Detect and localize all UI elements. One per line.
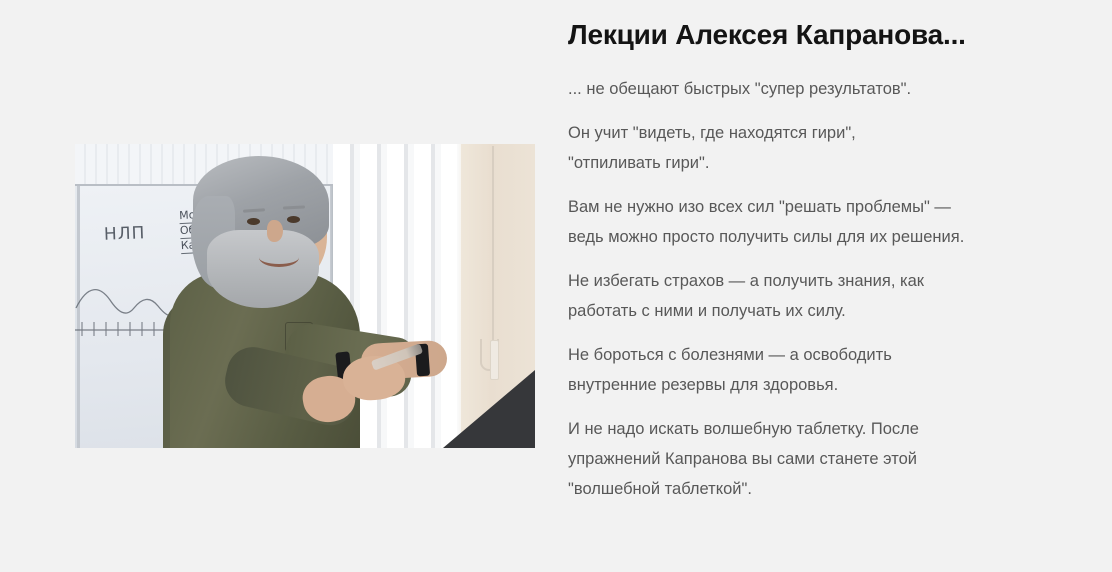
presenter-nose bbox=[267, 220, 283, 242]
lecturer-photo: НЛП Модель Образ Карта bbox=[75, 144, 535, 448]
presenter-eye-right bbox=[287, 216, 300, 223]
presenter bbox=[75, 144, 535, 448]
paragraph-1: ... не обещают быстрых "супер результато… bbox=[568, 74, 1068, 104]
photo-scene: НЛП Модель Образ Карта bbox=[75, 144, 535, 448]
paragraph-3: Вам не нужно изо всех сил "решать пробле… bbox=[568, 192, 1068, 252]
text-column: Лекции Алексея Капранова... ... не обеща… bbox=[568, 0, 1068, 572]
photo-column: НЛП Модель Образ Карта bbox=[0, 0, 560, 572]
presenter-smile bbox=[259, 248, 299, 267]
paragraph-5: Не бороться с болезнями — а освободитьвн… bbox=[568, 340, 1068, 400]
body-copy: ... не обещают быстрых "супер результато… bbox=[568, 74, 1068, 504]
paragraph-2: Он учит "видеть, где находятся гири","от… bbox=[568, 118, 1068, 178]
presenter-beard bbox=[207, 230, 319, 308]
landing-section: НЛП Модель Образ Карта bbox=[0, 0, 1112, 572]
paragraph-4: Не избегать страхов — а получить знания,… bbox=[568, 266, 1068, 326]
page-title: Лекции Алексея Капранова... bbox=[568, 0, 1068, 52]
paragraph-6: И не надо искать волшебную таблетку. Пос… bbox=[568, 414, 1068, 504]
presenter-eye-left bbox=[247, 218, 260, 225]
